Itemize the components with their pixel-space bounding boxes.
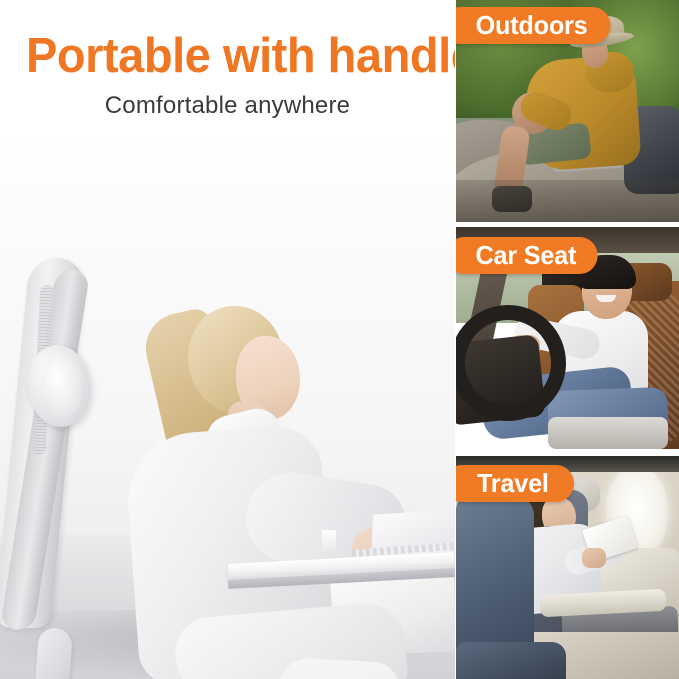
right-column: Outdoors <box>456 0 679 679</box>
badge-car-seat: Car Seat <box>456 237 598 274</box>
badge-travel: Travel <box>456 465 574 502</box>
badge-outdoors: Outdoors <box>456 7 611 44</box>
desk-cup <box>322 530 336 552</box>
page-subtitle: Comfortable anywhere <box>0 90 455 122</box>
panel-travel: Travel <box>456 456 679 679</box>
panel-car-seat: Car Seat <box>456 227 679 449</box>
headline-block: Portable with handle Comfortable anywher… <box>0 0 455 140</box>
product-infographic: Portable with handle Comfortable anywher… <box>0 0 679 679</box>
car-seat-cushion <box>548 417 668 449</box>
outdoors-rock-shadow <box>456 180 679 222</box>
traveler-hand <box>582 548 606 568</box>
airplane-seat-base <box>456 642 566 679</box>
office-chair-photo: Office Chair <box>0 140 455 679</box>
panel-outdoors: Outdoors <box>456 0 679 222</box>
page-title: Portable with handle <box>26 28 439 84</box>
left-column: Portable with handle Comfortable anywher… <box>0 0 455 679</box>
